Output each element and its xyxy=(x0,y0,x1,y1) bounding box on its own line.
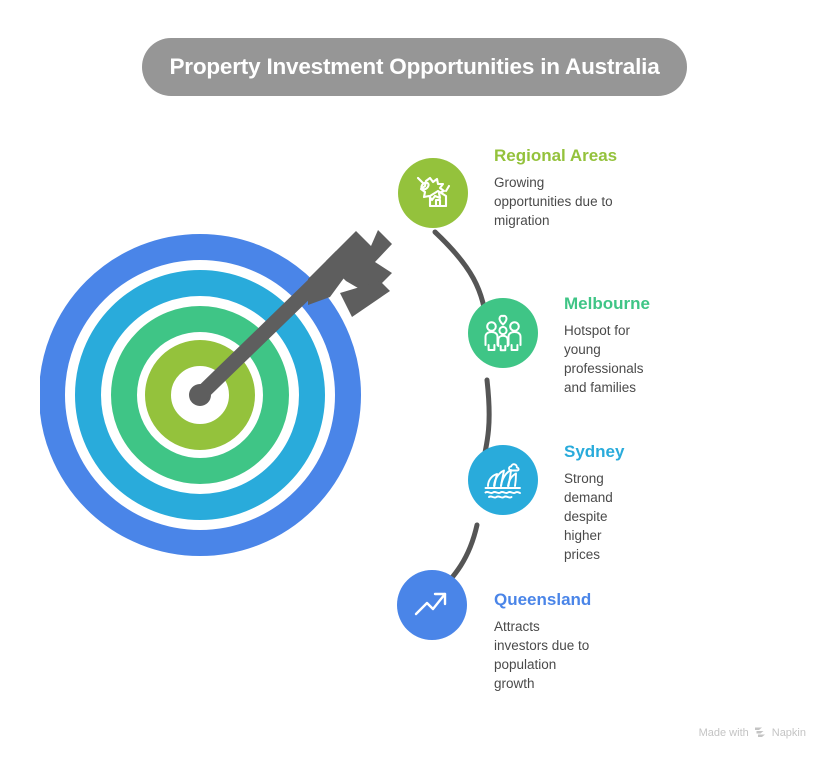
opera-house-icon xyxy=(480,459,526,501)
step-icon-circle-regional[interactable] xyxy=(398,158,468,228)
step-heading-queensland: Queensland xyxy=(494,589,591,610)
step-text-sydney: Sydney Strong demand despite higher pric… xyxy=(564,441,624,564)
infographic-canvas: Property Investment Opportunities in Aus… xyxy=(0,0,828,768)
step-description-regional: Growing opportunities due to migration xyxy=(494,173,617,230)
rural-house-tree-icon xyxy=(412,172,454,214)
napkin-logo-icon xyxy=(754,725,767,741)
step-text-regional: Regional Areas Growing opportunities due… xyxy=(494,145,617,230)
step-heading-melbourne: Melbourne xyxy=(564,293,650,314)
family-heart-icon xyxy=(481,312,525,354)
step-text-queensland: Queensland Attracts investors due to pop… xyxy=(494,589,591,693)
step-heading-sydney: Sydney xyxy=(564,441,624,462)
step-description-queensland: Attracts investors due to population gro… xyxy=(494,617,591,693)
step-icon-circle-melbourne[interactable] xyxy=(468,298,538,368)
step-description-melbourne: Hotspot for young professionals and fami… xyxy=(564,321,650,397)
page-title: Property Investment Opportunities in Aus… xyxy=(169,54,659,80)
step-icon-circle-sydney[interactable] xyxy=(468,445,538,515)
bullseye-target-graphic xyxy=(40,225,395,580)
trending-up-icon xyxy=(411,584,453,626)
step-description-sydney: Strong demand despite higher prices xyxy=(564,469,624,564)
watermark-prefix: Made with xyxy=(699,727,749,739)
step-heading-regional: Regional Areas xyxy=(494,145,617,166)
made-with-napkin-watermark: Made with Napkin xyxy=(699,725,806,741)
page-title-pill: Property Investment Opportunities in Aus… xyxy=(142,38,687,96)
watermark-brand: Napkin xyxy=(772,727,806,739)
step-icon-circle-queensland[interactable] xyxy=(397,570,467,640)
step-text-melbourne: Melbourne Hotspot for young professional… xyxy=(564,293,650,397)
